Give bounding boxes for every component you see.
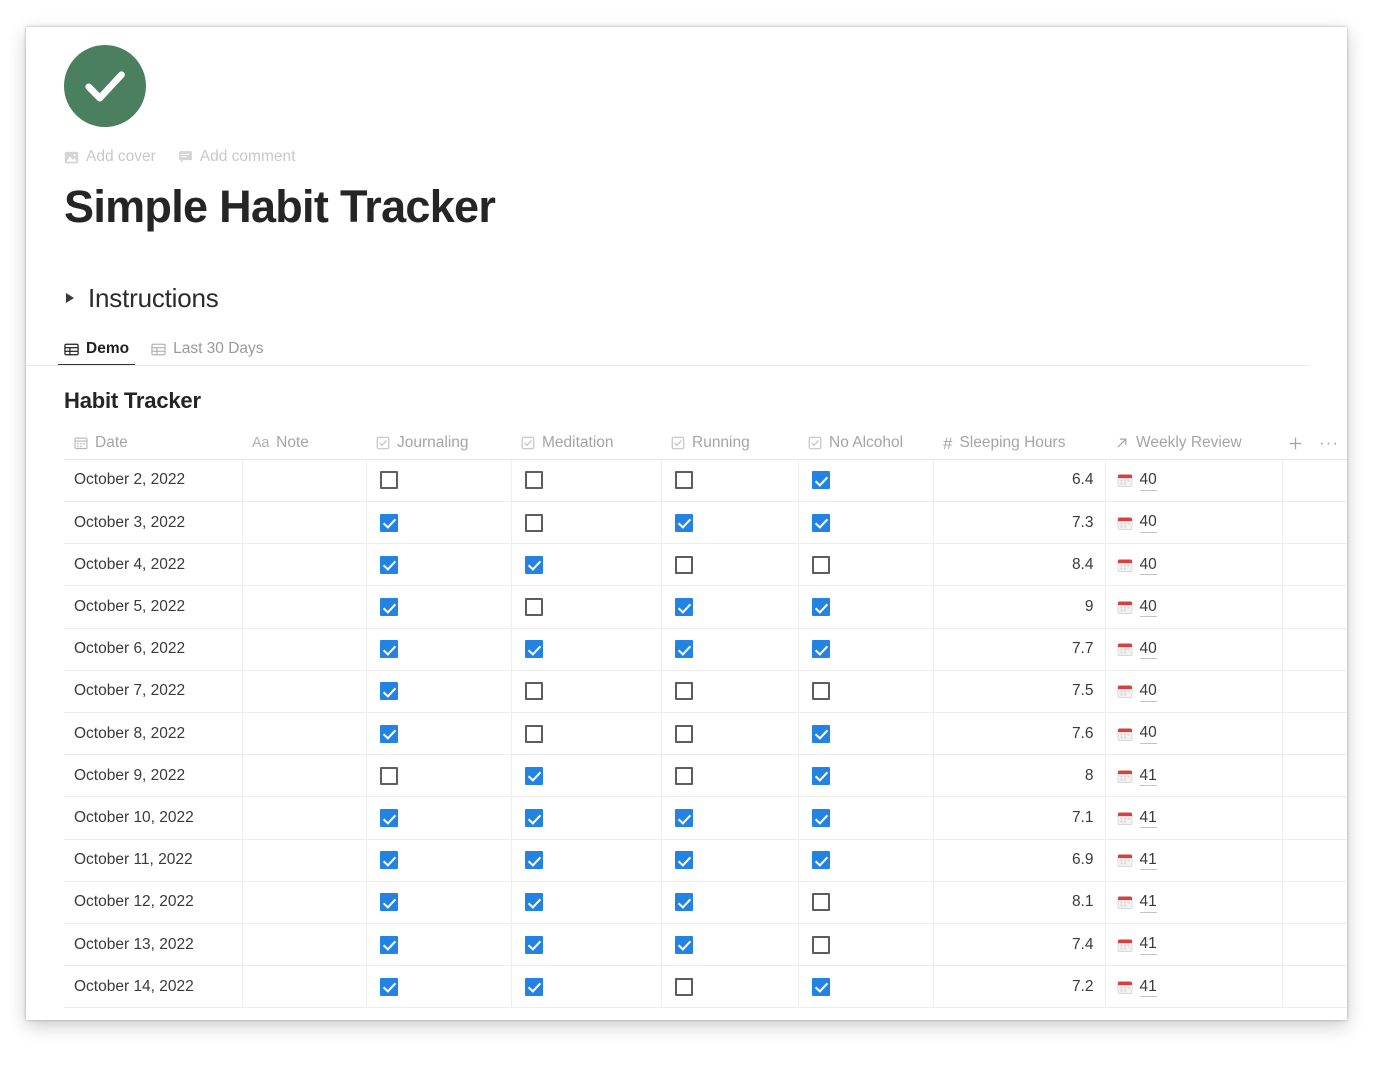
- cell-journaling[interactable]: [366, 966, 511, 1008]
- checkbox-no-alcohol[interactable]: [812, 598, 830, 616]
- cell-note[interactable]: [242, 586, 366, 628]
- checkbox-meditation[interactable]: [525, 936, 543, 954]
- table-header-row: Date Aa Note: [64, 427, 1347, 459]
- checkbox-meditation[interactable]: [525, 640, 543, 658]
- checkbox-running[interactable]: [675, 640, 693, 658]
- view-tab-demo-label: Demo: [86, 340, 129, 358]
- checkbox-journaling[interactable]: [380, 514, 398, 532]
- cell-date[interactable]: October 10, 2022: [64, 797, 242, 839]
- table-icon: [64, 342, 79, 357]
- cell-weekly-review[interactable]: 40: [1105, 628, 1282, 670]
- checkbox-journaling[interactable]: [380, 978, 398, 996]
- cell-meditation[interactable]: [511, 966, 661, 1008]
- column-header-note-label: Note: [276, 434, 309, 452]
- checkbox-no-alcohol[interactable]: [812, 809, 830, 827]
- cell-running[interactable]: [661, 797, 798, 839]
- cell-date[interactable]: October 14, 2022: [64, 966, 242, 1008]
- checkbox-running[interactable]: [675, 936, 693, 954]
- checkbox-meditation[interactable]: [525, 809, 543, 827]
- column-header-running[interactable]: Running: [661, 427, 798, 459]
- table-body: October 2, 20226.440October 3, 20227.340…: [64, 459, 1347, 1007]
- cell-note[interactable]: [242, 839, 366, 881]
- table-row[interactable]: October 8, 20227.640: [64, 713, 1347, 755]
- add-cover-label: Add cover: [86, 148, 156, 166]
- cell-meditation[interactable]: [511, 670, 661, 712]
- cell-date[interactable]: October 2, 2022: [64, 459, 242, 501]
- cell-weekly-review[interactable]: 40: [1105, 544, 1282, 586]
- cell-date[interactable]: October 6, 2022: [64, 628, 242, 670]
- checkbox-journaling[interactable]: [380, 598, 398, 616]
- cell-meditation[interactable]: [511, 586, 661, 628]
- page-title[interactable]: Simple Habit Tracker: [64, 182, 1347, 232]
- cell-running[interactable]: [661, 881, 798, 923]
- cell-journaling[interactable]: [366, 755, 511, 797]
- checkbox-meditation[interactable]: [525, 556, 543, 574]
- aa-icon: Aa: [252, 435, 269, 451]
- checkbox-meditation[interactable]: [525, 725, 543, 743]
- cell-weekly-review[interactable]: 40: [1105, 586, 1282, 628]
- database-title[interactable]: Habit Tracker: [64, 388, 1347, 414]
- column-header-no-alcohol[interactable]: No Alcohol: [798, 427, 933, 459]
- cell-note[interactable]: [242, 797, 366, 839]
- checkbox-running[interactable]: [675, 556, 693, 574]
- calendar-emoji-icon: [1117, 937, 1133, 953]
- cell-no-alcohol[interactable]: [798, 586, 933, 628]
- cell-running[interactable]: [661, 586, 798, 628]
- cell-note[interactable]: [242, 544, 366, 586]
- cell-sleeping-hours[interactable]: 7.4: [933, 923, 1105, 965]
- cell-empty-trailing: [1282, 923, 1347, 965]
- checkbox-no-alcohol[interactable]: [812, 851, 830, 869]
- cell-sleeping-hours[interactable]: 7.7: [933, 628, 1105, 670]
- table-row[interactable]: October 12, 20228.141: [64, 881, 1347, 923]
- cell-running[interactable]: [661, 755, 798, 797]
- table-row[interactable]: October 4, 20228.440: [64, 544, 1347, 586]
- calendar-emoji-icon: [1117, 515, 1133, 531]
- cell-journaling[interactable]: [366, 797, 511, 839]
- table-row[interactable]: October 11, 20226.941: [64, 839, 1347, 881]
- cell-meditation[interactable]: [511, 459, 661, 501]
- checkbox-meditation[interactable]: [525, 682, 543, 700]
- column-header-sleeping-hours-label: Sleeping Hours: [959, 434, 1065, 452]
- arrow-up-right-icon: [1115, 436, 1129, 450]
- cell-sleeping-hours[interactable]: 9: [933, 586, 1105, 628]
- checkbox-meditation[interactable]: [525, 851, 543, 869]
- cell-empty-trailing: [1282, 755, 1347, 797]
- cell-note[interactable]: [242, 923, 366, 965]
- cell-running[interactable]: [661, 459, 798, 501]
- view-tab-demo[interactable]: Demo: [64, 340, 129, 366]
- cell-meditation[interactable]: [511, 713, 661, 755]
- column-header-running-label: Running: [692, 434, 750, 452]
- cell-running[interactable]: [661, 923, 798, 965]
- cell-no-alcohol[interactable]: [798, 713, 933, 755]
- weekly-review-link[interactable]: 40: [1140, 512, 1157, 532]
- column-header-weekly-review[interactable]: Weekly Review: [1105, 427, 1282, 459]
- cell-journaling[interactable]: [366, 502, 511, 544]
- checkbox-journaling[interactable]: [380, 471, 398, 489]
- view-tab-divider: [26, 365, 1309, 366]
- cell-date[interactable]: October 12, 2022: [64, 881, 242, 923]
- table-row[interactable]: October 3, 20227.340: [64, 502, 1347, 544]
- checkbox-no-alcohol[interactable]: [812, 725, 830, 743]
- checkbox-journaling[interactable]: [380, 809, 398, 827]
- cell-journaling[interactable]: [366, 881, 511, 923]
- cell-running[interactable]: [661, 628, 798, 670]
- column-header-meditation-label: Meditation: [542, 434, 614, 452]
- checkbox-running[interactable]: [675, 471, 693, 489]
- checkbox-running[interactable]: [675, 851, 693, 869]
- column-header-note[interactable]: Aa Note: [242, 427, 366, 459]
- checkbox-icon: [808, 436, 822, 450]
- add-column-button[interactable]: [1288, 436, 1303, 451]
- column-header-actions: ···: [1282, 427, 1347, 459]
- cell-note[interactable]: [242, 628, 366, 670]
- cell-sleeping-hours[interactable]: 6.4: [933, 459, 1105, 501]
- checkbox-no-alcohol[interactable]: [812, 471, 830, 489]
- cell-empty-trailing: [1282, 797, 1347, 839]
- calendar-emoji-icon: [1117, 641, 1133, 657]
- cell-meditation[interactable]: [511, 923, 661, 965]
- cell-empty-trailing: [1282, 544, 1347, 586]
- cell-meditation[interactable]: [511, 628, 661, 670]
- table-row[interactable]: October 5, 2022940: [64, 586, 1347, 628]
- cell-no-alcohol[interactable]: [798, 923, 933, 965]
- cell-meditation[interactable]: [511, 839, 661, 881]
- table-row[interactable]: October 9, 2022841: [64, 755, 1347, 797]
- column-header-sleeping-hours[interactable]: # Sleeping Hours: [933, 427, 1105, 459]
- cell-sleeping-hours[interactable]: 7.2: [933, 966, 1105, 1008]
- table-row[interactable]: October 2, 20226.440: [64, 459, 1347, 501]
- checkbox-no-alcohol[interactable]: [812, 936, 830, 954]
- cell-no-alcohol[interactable]: [798, 839, 933, 881]
- cell-no-alcohol[interactable]: [798, 797, 933, 839]
- cell-weekly-review[interactable]: 40: [1105, 713, 1282, 755]
- cell-no-alcohol[interactable]: [798, 628, 933, 670]
- cell-empty-trailing: [1282, 881, 1347, 923]
- cell-empty-trailing: [1282, 459, 1347, 501]
- cell-no-alcohol[interactable]: [798, 881, 933, 923]
- calendar-emoji-icon: [1117, 683, 1133, 699]
- weekly-review-link[interactable]: 41: [1140, 934, 1157, 954]
- triangle-right-icon[interactable]: [66, 293, 74, 303]
- cell-weekly-review[interactable]: 41: [1105, 755, 1282, 797]
- calendar-emoji-icon: [1117, 894, 1133, 910]
- table-more-options-button[interactable]: ···: [1319, 438, 1339, 448]
- table-row[interactable]: October 7, 20227.540: [64, 670, 1347, 712]
- cell-note[interactable]: [242, 966, 366, 1008]
- cell-journaling[interactable]: [366, 923, 511, 965]
- cell-journaling[interactable]: [366, 839, 511, 881]
- cell-note[interactable]: [242, 459, 366, 501]
- cell-sleeping-hours[interactable]: 7.6: [933, 713, 1105, 755]
- cell-journaling[interactable]: [366, 544, 511, 586]
- checkbox-journaling[interactable]: [380, 936, 398, 954]
- cell-running[interactable]: [661, 966, 798, 1008]
- cell-note[interactable]: [242, 881, 366, 923]
- calendar-emoji-icon: [1117, 979, 1133, 995]
- checkbox-no-alcohol[interactable]: [812, 893, 830, 911]
- column-header-journaling[interactable]: Journaling: [366, 427, 511, 459]
- green-check-circle-icon[interactable]: [64, 45, 146, 127]
- table-row[interactable]: October 13, 20227.441: [64, 923, 1347, 965]
- column-header-journaling-label: Journaling: [397, 434, 469, 452]
- cell-weekly-review[interactable]: 40: [1105, 670, 1282, 712]
- checkbox-journaling[interactable]: [380, 725, 398, 743]
- table-row[interactable]: October 6, 20227.740: [64, 628, 1347, 670]
- column-header-weekly-review-label: Weekly Review: [1136, 434, 1242, 452]
- habit-tracker-table: Date Aa Note: [64, 427, 1347, 1008]
- cell-empty-trailing: [1282, 670, 1347, 712]
- cell-empty-trailing: [1282, 839, 1347, 881]
- calendar-emoji-icon: [1117, 852, 1133, 868]
- checkbox-no-alcohol[interactable]: [812, 767, 830, 785]
- cell-meditation[interactable]: [511, 544, 661, 586]
- add-cover-button[interactable]: Add cover: [64, 148, 156, 166]
- checkbox-journaling[interactable]: [380, 767, 398, 785]
- weekly-review-link[interactable]: 40: [1140, 597, 1157, 617]
- view-tab-bar: Demo Last 30 Days: [64, 336, 1347, 366]
- cell-weekly-review[interactable]: 41: [1105, 839, 1282, 881]
- cell-empty-trailing: [1282, 966, 1347, 1008]
- calendar-icon: [74, 436, 88, 450]
- checkbox-meditation[interactable]: [525, 978, 543, 996]
- cell-note[interactable]: [242, 755, 366, 797]
- column-header-no-alcohol-label: No Alcohol: [829, 434, 903, 452]
- column-header-meditation[interactable]: Meditation: [511, 427, 661, 459]
- page-content: Add cover Add comment Simple Habit Track…: [26, 27, 1347, 1020]
- calendar-emoji-icon: [1117, 599, 1133, 615]
- cell-note[interactable]: [242, 713, 366, 755]
- cell-running[interactable]: [661, 670, 798, 712]
- column-header-date-label: Date: [95, 434, 128, 452]
- cell-weekly-review[interactable]: 40: [1105, 459, 1282, 501]
- cell-date[interactable]: October 5, 2022: [64, 586, 242, 628]
- cell-meditation[interactable]: [511, 755, 661, 797]
- checkbox-running[interactable]: [675, 725, 693, 743]
- checkbox-meditation[interactable]: [525, 767, 543, 785]
- page-action-bar: Add cover Add comment: [64, 147, 1347, 167]
- calendar-emoji-icon: [1117, 472, 1133, 488]
- cell-empty-trailing: [1282, 502, 1347, 544]
- cell-note[interactable]: [242, 502, 366, 544]
- weekly-review-link[interactable]: 41: [1140, 766, 1157, 786]
- calendar-emoji-icon: [1117, 726, 1133, 742]
- cell-date[interactable]: October 8, 2022: [64, 713, 242, 755]
- cell-date[interactable]: October 13, 2022: [64, 923, 242, 965]
- calendar-emoji-icon: [1117, 810, 1133, 826]
- weekly-review-link[interactable]: 40: [1140, 639, 1157, 659]
- view-tab-last-30-days-label: Last 30 Days: [173, 340, 263, 358]
- checkbox-no-alcohol[interactable]: [812, 640, 830, 658]
- cell-no-alcohol[interactable]: [798, 544, 933, 586]
- cell-no-alcohol[interactable]: [798, 502, 933, 544]
- table-icon: [151, 342, 166, 357]
- cell-meditation[interactable]: [511, 881, 661, 923]
- checkbox-running[interactable]: [675, 767, 693, 785]
- notion-page-window: Add cover Add comment Simple Habit Track…: [26, 27, 1347, 1020]
- image-icon: [64, 150, 79, 165]
- checkbox-no-alcohol[interactable]: [812, 978, 830, 996]
- checkbox-no-alcohol[interactable]: [812, 682, 830, 700]
- checkbox-no-alcohol[interactable]: [812, 556, 830, 574]
- cell-empty-trailing: [1282, 713, 1347, 755]
- weekly-review-link[interactable]: 40: [1140, 470, 1157, 490]
- checkbox-meditation[interactable]: [525, 598, 543, 616]
- weekly-review-link[interactable]: 41: [1140, 892, 1157, 912]
- checkbox-journaling[interactable]: [380, 640, 398, 658]
- checkbox-icon: [376, 436, 390, 450]
- checkbox-running[interactable]: [675, 682, 693, 700]
- cell-date[interactable]: October 9, 2022: [64, 755, 242, 797]
- add-comment-label: Add comment: [200, 148, 296, 166]
- checkbox-meditation[interactable]: [525, 471, 543, 489]
- calendar-emoji-icon: [1117, 557, 1133, 573]
- checkbox-meditation[interactable]: [525, 514, 543, 532]
- cell-note[interactable]: [242, 670, 366, 712]
- comment-icon: [178, 150, 193, 165]
- checkbox-journaling[interactable]: [380, 682, 398, 700]
- checkbox-icon: [671, 436, 685, 450]
- calendar-emoji-icon: [1117, 768, 1133, 784]
- cell-no-alcohol[interactable]: [798, 459, 933, 501]
- table-row[interactable]: October 14, 20227.241: [64, 966, 1347, 1008]
- hash-icon: #: [943, 435, 952, 452]
- checkbox-no-alcohol[interactable]: [812, 514, 830, 532]
- cell-sleeping-hours[interactable]: 8: [933, 755, 1105, 797]
- cell-sleeping-hours[interactable]: 6.9: [933, 839, 1105, 881]
- cell-sleeping-hours[interactable]: 7.1: [933, 797, 1105, 839]
- cell-date[interactable]: October 7, 2022: [64, 670, 242, 712]
- cell-no-alcohol[interactable]: [798, 755, 933, 797]
- cell-weekly-review[interactable]: 41: [1105, 797, 1282, 839]
- cell-sleeping-hours[interactable]: 8.1: [933, 881, 1105, 923]
- cell-date[interactable]: October 11, 2022: [64, 839, 242, 881]
- cell-no-alcohol[interactable]: [798, 966, 933, 1008]
- cell-weekly-review[interactable]: 41: [1105, 881, 1282, 923]
- cell-empty-trailing: [1282, 628, 1347, 670]
- cell-weekly-review[interactable]: 40: [1105, 502, 1282, 544]
- cell-running[interactable]: [661, 839, 798, 881]
- checkbox-journaling[interactable]: [380, 556, 398, 574]
- checkbox-running[interactable]: [675, 978, 693, 996]
- checkbox-meditation[interactable]: [525, 893, 543, 911]
- table-row[interactable]: October 10, 20227.141: [64, 797, 1347, 839]
- cell-sleeping-hours[interactable]: 7.3: [933, 502, 1105, 544]
- weekly-review-link[interactable]: 41: [1140, 808, 1157, 828]
- view-tab-last-30-days[interactable]: Last 30 Days: [151, 340, 263, 366]
- cell-journaling[interactable]: [366, 628, 511, 670]
- cell-weekly-review[interactable]: 41: [1105, 966, 1282, 1008]
- cell-running[interactable]: [661, 544, 798, 586]
- checkbox-running[interactable]: [675, 514, 693, 532]
- checkbox-journaling[interactable]: [380, 851, 398, 869]
- cell-journaling[interactable]: [366, 459, 511, 501]
- weekly-review-link[interactable]: 41: [1140, 977, 1157, 997]
- cell-date[interactable]: October 4, 2022: [64, 544, 242, 586]
- cell-sleeping-hours[interactable]: 7.5: [933, 670, 1105, 712]
- page-icon-wrap: [64, 27, 1347, 127]
- cell-meditation[interactable]: [511, 797, 661, 839]
- cell-journaling[interactable]: [366, 713, 511, 755]
- weekly-review-link[interactable]: 41: [1140, 850, 1157, 870]
- checkbox-running[interactable]: [675, 809, 693, 827]
- cell-running[interactable]: [661, 502, 798, 544]
- cell-no-alcohol[interactable]: [798, 670, 933, 712]
- instructions-label: Instructions: [88, 283, 219, 314]
- cell-journaling[interactable]: [366, 670, 511, 712]
- cell-empty-trailing: [1282, 586, 1347, 628]
- cell-weekly-review[interactable]: 41: [1105, 923, 1282, 965]
- cell-date[interactable]: October 3, 2022: [64, 502, 242, 544]
- instructions-toggle[interactable]: Instructions: [64, 282, 1347, 314]
- cell-running[interactable]: [661, 713, 798, 755]
- weekly-review-link[interactable]: 40: [1140, 681, 1157, 701]
- add-comment-button[interactable]: Add comment: [178, 148, 296, 166]
- checkbox-icon: [521, 436, 535, 450]
- cell-meditation[interactable]: [511, 502, 661, 544]
- checkbox-running[interactable]: [675, 598, 693, 616]
- column-header-date[interactable]: Date: [64, 427, 242, 459]
- weekly-review-link[interactable]: 40: [1140, 555, 1157, 575]
- checkbox-running[interactable]: [675, 893, 693, 911]
- checkbox-journaling[interactable]: [380, 893, 398, 911]
- cell-sleeping-hours[interactable]: 8.4: [933, 544, 1105, 586]
- cell-journaling[interactable]: [366, 586, 511, 628]
- weekly-review-link[interactable]: 40: [1140, 723, 1157, 743]
